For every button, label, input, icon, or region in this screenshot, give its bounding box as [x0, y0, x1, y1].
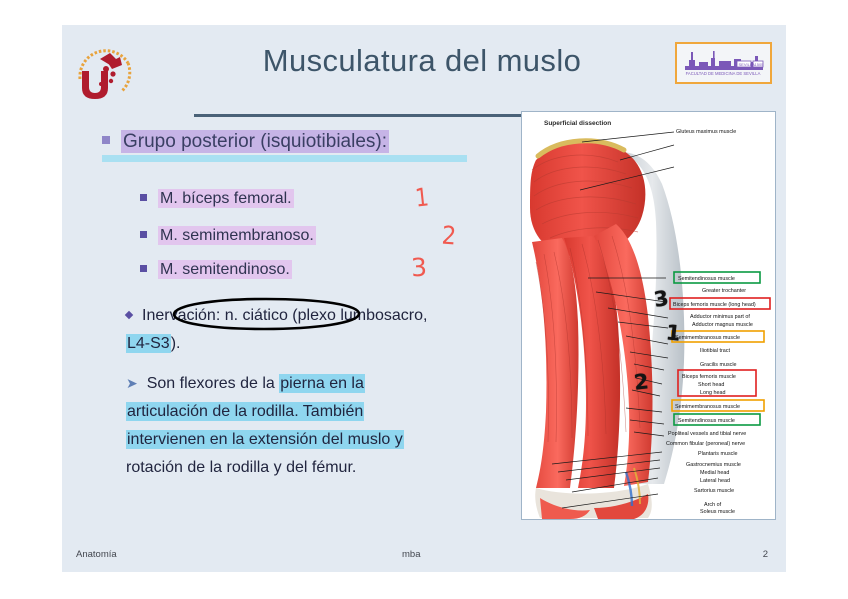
handwritten-numeral-red-2: 2	[441, 221, 457, 251]
facultad-skyline-logo: SEVILLA 1505 FACULTAD DE MEDICINA DE SEV…	[675, 42, 772, 84]
square-bullet-icon	[140, 265, 147, 272]
figure-label: Iliotibial tract	[700, 348, 730, 354]
figure-label: Medial head	[700, 470, 729, 476]
diamond-bullet-icon	[125, 311, 133, 319]
square-bullet-icon	[140, 231, 147, 238]
figure-label: Gastrocnemius muscle	[686, 462, 741, 468]
heading-grupo-posterior: Grupo posterior (isquiotibiales):	[102, 129, 522, 155]
function-hl-1: pierna en la	[279, 374, 365, 393]
figure-label: Semimembranosus muscle	[675, 404, 740, 410]
figure-label: Long head	[700, 390, 725, 396]
handwritten-numeral-black-1: 1	[665, 320, 682, 345]
cyan-highlight-band	[102, 155, 467, 162]
figure-label: Sartorius muscle	[694, 488, 734, 494]
square-bullet-icon	[140, 194, 147, 201]
slide-page: SEVILLA 1505 FACULTAD DE MEDICINA DE SEV…	[0, 0, 848, 599]
figure-caption: Superficial dissection	[544, 120, 611, 127]
list-item: M. semitendinoso.	[140, 259, 292, 281]
handwritten-numeral-black-3: 3	[652, 286, 670, 312]
function-plain-end: rotación de la rodilla y del fémur.	[126, 459, 356, 476]
handwritten-numeral-red-1: 1	[414, 182, 430, 212]
figure-label: Greater trochanter	[702, 288, 746, 294]
figure-label: Adductor minimus part of	[690, 314, 750, 320]
figure-label: Short head	[698, 382, 724, 388]
figure-label: Adductor magnus muscle	[692, 322, 753, 328]
anatomy-figure: Superficial dissection	[521, 111, 776, 520]
list-item: M. bíceps femoral.	[140, 188, 294, 210]
innervation-circled-text: Inervación: n. ciático	[142, 307, 288, 324]
page-number: 2	[763, 549, 768, 560]
figure-label: Soleus muscle	[700, 509, 735, 515]
footer-center: mba	[402, 549, 420, 560]
muscle-label: M. semitendinoso.	[158, 260, 292, 279]
figure-label: Semimembranosus muscle	[675, 335, 740, 341]
figure-label: Semitendinosus muscle	[678, 418, 735, 424]
svg-text:1505: 1505	[755, 62, 765, 67]
muscle-label: M. semimembranoso.	[158, 226, 316, 245]
svg-text:FACULTAD DE MEDICINA DE SEVILL: FACULTAD DE MEDICINA DE SEVILLA	[686, 71, 761, 76]
square-bullet-icon	[102, 136, 110, 144]
figure-label: Lateral head	[700, 478, 730, 484]
heading-text: Grupo posterior (isquiotibiales):	[121, 130, 389, 153]
list-item: M. semimembranoso.	[140, 225, 316, 247]
muscle-label: M. bíceps femoral.	[158, 189, 294, 208]
page-title: Musculatura del muslo	[182, 43, 662, 79]
innervation-paragraph: Inervación: n. ciático (plexo lumbosacro…	[126, 302, 526, 358]
innervation-rest-2: ).	[171, 335, 181, 352]
figure-label: Arch of	[704, 502, 722, 508]
function-hl-2: articulación de la rodilla. También	[126, 402, 364, 421]
universidad-de-sevilla-logo	[70, 33, 138, 103]
figure-label: Biceps femoris muscle	[682, 374, 736, 380]
figure-label: Plantaris muscle	[698, 451, 738, 457]
figure-label: Biceps femoris muscle (long head)	[673, 302, 756, 308]
function-plain-start: Son flexores de la	[147, 375, 280, 392]
handwritten-numeral-black-2: 2	[633, 369, 650, 394]
figure-label: Semitendinosus muscle	[678, 276, 735, 282]
innervation-highlight: L4-S3	[126, 334, 171, 353]
function-hl-3: intervienen en la extensión del muslo y	[126, 430, 404, 449]
figure-label: Gracilis muscle	[700, 362, 737, 368]
arrow-bullet-icon: ➤	[126, 369, 138, 397]
presentation-slide: SEVILLA 1505 FACULTAD DE MEDICINA DE SEV…	[62, 25, 786, 572]
figure-label: Common fibular (peroneal) nerve	[666, 441, 745, 447]
svg-text:SEVILLA: SEVILLA	[739, 62, 756, 67]
figure-label: Popliteal vessels and tibial nerve	[668, 431, 746, 437]
innervation-rest-1: (plexo lumbosacro,	[288, 307, 428, 324]
function-paragraph: ➤Son flexores de la pierna en la articul…	[126, 369, 486, 482]
handwritten-numeral-red-3: 3	[410, 253, 427, 283]
footer-left: Anatomía	[76, 549, 117, 560]
figure-label: Gluteus maximus muscle	[676, 129, 736, 135]
